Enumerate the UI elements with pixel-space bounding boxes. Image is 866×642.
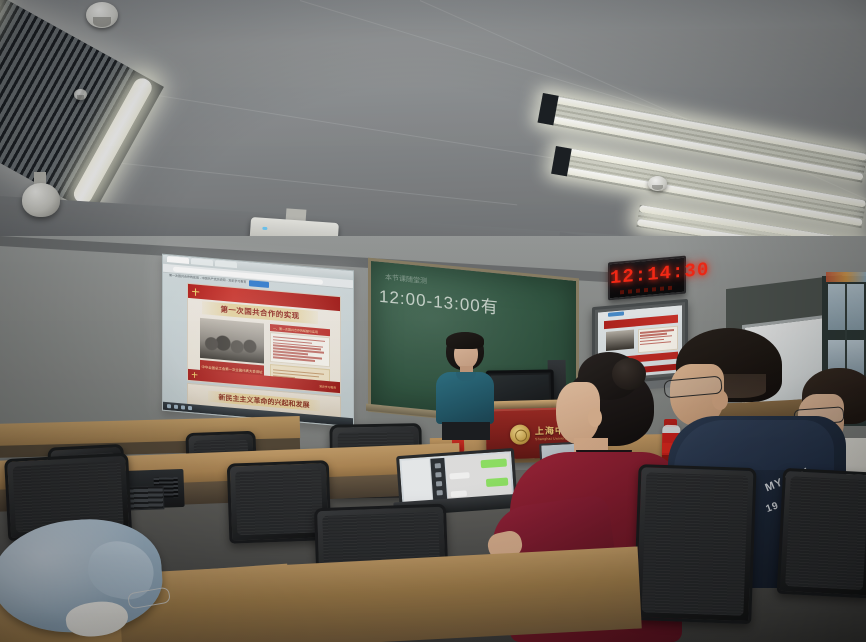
wechat-files-icon[interactable] [436,481,442,486]
message-bubble-incoming [451,490,467,497]
slide-footer-text: 党史学习教育 [319,384,336,389]
classroom-photo: 12:14:30 第一次国共合作的实现 - 中国共产党历史网 - 党史学习教育 … [0,0,866,642]
wechat-contacts-icon[interactable] [435,472,441,477]
slide-body-text [270,332,330,367]
taskbar-icon[interactable] [174,405,178,409]
wechat-chat-icon[interactable] [435,463,441,468]
chair-mesh [235,468,323,535]
dome-security-camera-icon [22,183,60,217]
woman-hair-knot [612,358,646,390]
browser-tab[interactable] [167,256,189,264]
chair-mesh [641,472,748,615]
browser-tab[interactable] [215,260,237,268]
party-emblem-icon [191,371,198,379]
smoke-detector-icon [86,2,118,28]
chair[interactable] [227,460,326,537]
slide-photo [200,318,264,364]
chair-back [777,468,866,599]
smoke-detector-icon [648,176,667,191]
projection-screen: 第一次国共合作的实现 - 中国共产党历史网 - 党史学习教育 第一次国共合作的实… [162,254,354,428]
smoke-detector-icon [74,89,87,100]
window-banner [826,272,866,282]
presenter-woman [436,332,494,436]
presenter-skirt [442,422,490,440]
party-emblem-icon [191,287,200,297]
taskbar-icon[interactable] [167,404,171,408]
chair[interactable] [777,468,866,592]
wechat-more-icon[interactable] [437,490,443,495]
taskbar-icon[interactable] [188,406,192,410]
chair-mesh [785,476,866,590]
taskbar-icon[interactable] [181,405,185,409]
led-wall-clock: 12:14:30 [608,256,686,301]
woman-ear [588,408,602,427]
slide-frame: 第一次国共合作的实现 中华全国总工会第一次全国代表大会旧址 一、第一次国共合作的… [187,283,341,394]
browser-tab[interactable] [191,258,213,266]
chalkboard-main-text: 12:00-13:00有 [379,282,499,319]
student1-shoulder [674,420,834,470]
wechat-contact-list [401,459,433,505]
tv-slide-photo [606,330,634,351]
browser-play-button[interactable] [249,280,269,288]
projector-status-led [262,227,267,230]
chair[interactable] [633,464,750,618]
chair-back [633,464,756,624]
message-bubble-incoming [449,472,469,479]
presenter-hair-front [446,332,484,349]
